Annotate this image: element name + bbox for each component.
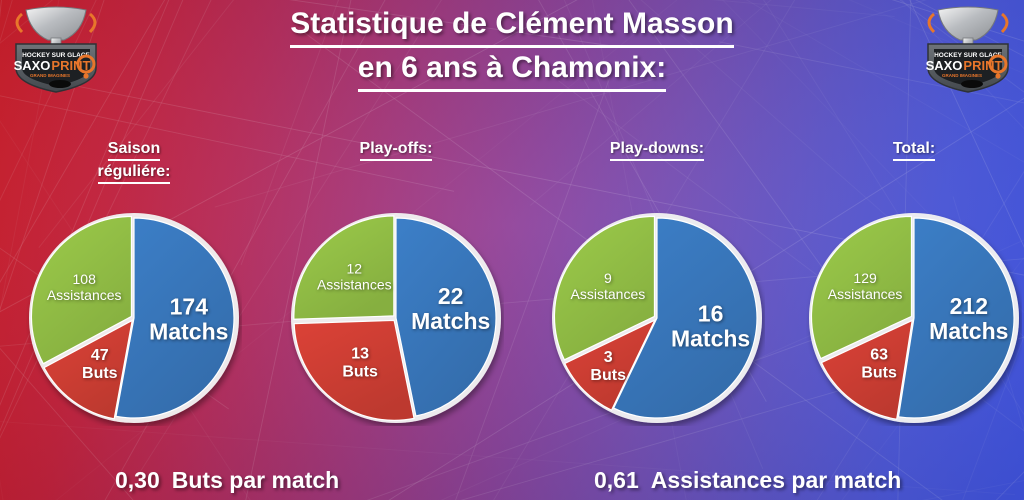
pie-slice-assistances [294,216,394,319]
column-header-play-offs: Play-offs: [288,138,504,161]
pie-chart-play-downs: 16Matchs3Buts9Assistances [549,210,765,426]
title-line-1: Statistique de Clément Masson [290,4,733,48]
buts-per-match-value: 0,30 [115,467,160,493]
slice-value-assistances: 9 [604,270,612,286]
pie-chart-saison-reguliere: 174Matchs47Buts108Assistances [26,210,242,426]
logo-dot-icon [995,73,1000,78]
pie-svg: 16Matchs3Buts9Assistances [549,210,765,426]
slice-value-buts: 3 [604,349,613,366]
logo-artwork: HOCKEY SUR GLACE SAXOPRINT GRAND IMAGINE… [916,2,1020,94]
header-line-1: Total: [893,138,935,161]
header-line-1: Saison [108,138,160,161]
infographic-canvas: HOCKEY SUR GLACE SAXOPRINT GRAND IMAGINE… [0,0,1024,500]
slice-label-assistances: Assistances [317,277,392,293]
header-line-1: Play-offs: [360,138,433,161]
pie-svg: 212Matchs63Buts129Assistances [806,210,1022,426]
logo-shield: HOCKEY SUR GLACE SAXOPRINT GRAND IMAGINE… [14,44,96,92]
column-header-saison-reguliere: Saison réguliére: [26,138,242,184]
slice-value-matchs: 174 [170,294,209,320]
logo-brand-saxo: SAXO [14,58,51,73]
logo-brand-saxo: SAXO [926,58,963,73]
pie-chart-play-offs: 22Matchs13Buts12Assistances [288,210,504,426]
logo-tagline: GRAND IMAGINES [942,73,982,78]
title-line-2: en 6 ans à Chamonix: [358,48,666,92]
logo-tagline: GRAND IMAGINES [30,73,70,78]
footer-stat-assistances-par-match: 0,61Assistances par match [594,467,901,494]
footer-stat-buts-par-match: 0,30Buts par match [115,467,339,494]
header-line-2: réguliére: [98,161,171,184]
column-header-play-downs: Play-downs: [549,138,765,161]
slice-value-matchs: 212 [950,293,988,319]
puck-icon [961,80,983,88]
slice-label-assistances: Assistances [47,287,122,303]
slice-value-matchs: 22 [438,283,464,309]
slice-label-buts: Buts [342,364,378,381]
pie-svg: 22Matchs13Buts12Assistances [288,210,504,426]
logo-dot-icon [83,73,88,78]
assists-per-match-label: Assistances par match [651,467,902,493]
slice-value-assistances: 108 [73,271,97,287]
buts-per-match-label: Buts par match [172,467,339,493]
slice-value-buts: 13 [351,346,369,363]
slice-label-matchs: Matchs [929,318,1008,344]
puck-icon [49,80,71,88]
slice-label-buts: Buts [590,367,626,384]
slice-label-assistances: Assistances [828,286,903,302]
saxoprint-logo-right: HOCKEY SUR GLACE SAXOPRINT GRAND IMAGINE… [916,2,1020,94]
slice-label-assistances: Assistances [571,286,646,302]
header-line-1: Play-downs: [610,138,704,161]
slice-value-matchs: 16 [698,301,724,327]
slice-label-matchs: Matchs [671,326,750,352]
page-title: Statistique de Clément Masson en 6 ans à… [150,4,874,92]
slice-value-assistances: 129 [853,270,877,286]
slice-label-matchs: Matchs [411,308,490,334]
slice-value-assistances: 12 [347,261,363,277]
slice-label-matchs: Matchs [149,319,228,345]
pie-svg: 174Matchs47Buts108Assistances [26,210,242,426]
slice-value-buts: 47 [91,347,109,364]
column-header-total: Total: [806,138,1022,161]
logo-artwork: HOCKEY SUR GLACE SAXOPRINT GRAND IMAGINE… [4,2,108,94]
saxoprint-logo-left: HOCKEY SUR GLACE SAXOPRINT GRAND IMAGINE… [4,2,108,94]
slice-label-buts: Buts [82,365,118,382]
pie-chart-total: 212Matchs63Buts129Assistances [806,210,1022,426]
slice-label-buts: Buts [861,364,897,381]
logo-shield: HOCKEY SUR GLACE SAXOPRINT GRAND IMAGINE… [926,44,1008,92]
slice-value-buts: 63 [870,346,888,363]
assists-per-match-value: 0,61 [594,467,639,493]
